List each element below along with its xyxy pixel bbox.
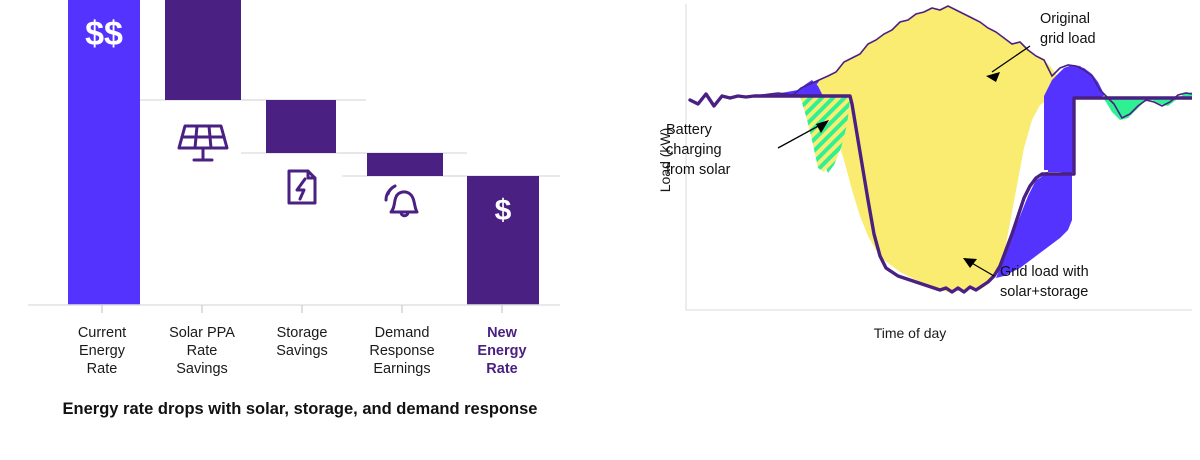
svg-text:Battery: Battery (666, 122, 713, 138)
svg-text:Savings: Savings (176, 361, 228, 377)
annotation-battery-charging-from-solar: Battery charging from solar (666, 120, 829, 178)
svg-text:Response: Response (369, 343, 434, 359)
svg-text:Current: Current (78, 325, 126, 341)
category-label-storage-savings: Storage Savings (276, 325, 328, 359)
y-axis-label: Load (kW) (657, 128, 673, 193)
svg-text:solar+storage: solar+storage (1000, 284, 1088, 300)
svg-text:Savings: Savings (276, 343, 328, 359)
category-label-solar-ppa-rate-savings: Solar PPA Rate Savings (169, 325, 235, 377)
svg-text:Original: Original (1040, 11, 1090, 27)
region-battery-charging-offpeak (1103, 92, 1192, 120)
waterfall-ticks (102, 305, 502, 313)
load-profile-chart: Original grid load Battery charging from… (600, 0, 1200, 390)
waterfall-figure: $$ $ (0, 0, 600, 460)
category-label-demand-response-earnings: Demand Response Earnings (369, 325, 434, 377)
svg-text:New: New (487, 325, 518, 341)
load-profile-figure: Original grid load Battery charging from… (600, 0, 1200, 460)
svg-text:Solar PPA: Solar PPA (169, 325, 235, 341)
svg-text:Grid load with: Grid load with (1000, 264, 1089, 280)
region-battery-charging-hatch-fill (803, 96, 850, 173)
dollar-icon: $ (495, 194, 512, 227)
dollar-dollar-icon: $$ (85, 15, 123, 53)
bar-solar-ppa-rate-savings[interactable] (165, 0, 241, 100)
svg-text:Demand: Demand (375, 325, 430, 341)
svg-text:Rate: Rate (187, 343, 218, 359)
svg-text:Rate: Rate (486, 361, 517, 377)
svg-text:Storage: Storage (277, 325, 328, 341)
bar-storage-savings[interactable] (266, 100, 336, 153)
bar-demand-response-earnings[interactable] (367, 153, 443, 176)
svg-text:grid load: grid load (1040, 31, 1096, 47)
left-figure-caption: Energy rate drops with solar, storage, a… (40, 398, 560, 420)
category-label-current-energy-rate: Current Energy Rate (78, 325, 126, 377)
svg-text:Energy: Energy (477, 343, 526, 359)
svg-text:Earnings: Earnings (373, 361, 430, 377)
x-axis-label: Time of day (874, 325, 947, 341)
waterfall-chart: $$ $ (0, 0, 600, 390)
solar-panel-icon (179, 126, 227, 160)
svg-text:Rate: Rate (87, 361, 118, 377)
battery-bolt-icon (289, 171, 315, 203)
demand-bell-icon (386, 186, 417, 216)
category-label-new-energy-rate: New Energy Rate (477, 325, 526, 377)
svg-text:from solar: from solar (666, 162, 731, 178)
svg-text:Energy: Energy (79, 343, 126, 359)
svg-text:charging: charging (666, 142, 722, 158)
